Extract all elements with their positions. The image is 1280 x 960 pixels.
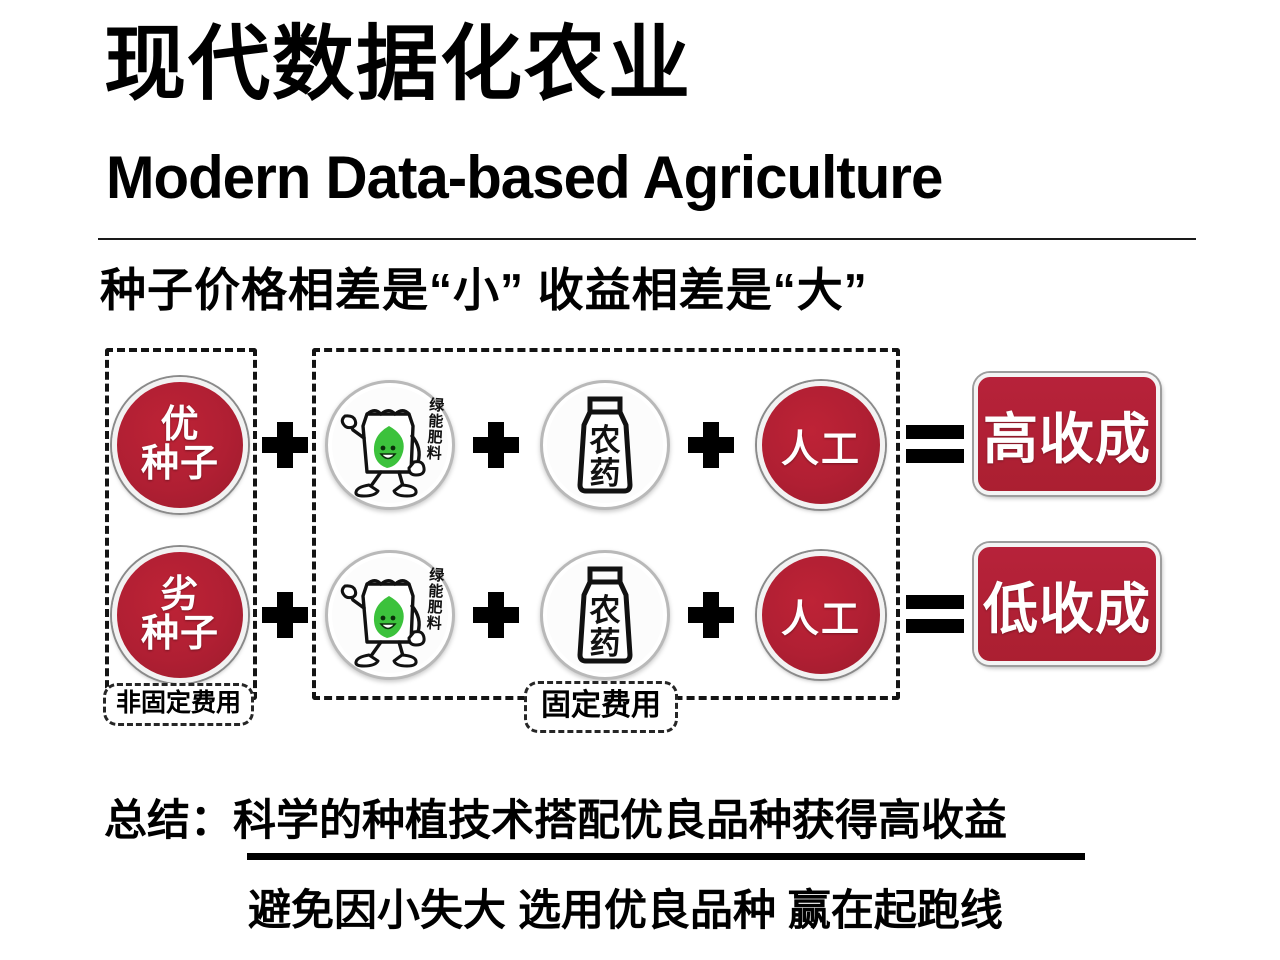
seed-badge-bad[interactable]: 劣 种子	[112, 547, 248, 683]
result-badge-low-yield[interactable]: 低收成	[974, 543, 1160, 665]
variable-cost-tag: 非固定费用	[103, 683, 254, 726]
equation-row-good-seed: 优 种子	[0, 365, 1280, 525]
seed-badge-good-text: 优 种子	[141, 406, 219, 484]
pesticide-bottle-icon: 农 药	[550, 559, 660, 671]
svg-text:农: 农	[590, 423, 621, 458]
page-title-en: Modern Data-based Agriculture	[106, 148, 942, 208]
summary-text: 总结：科学的种植技术搭配优良品种获得高收益	[104, 786, 1007, 848]
svg-text:药: 药	[590, 456, 621, 491]
plus-icon	[473, 422, 519, 468]
labor-badge-label: 人工	[781, 588, 861, 643]
plus-icon	[473, 592, 519, 638]
result-badge-high-yield[interactable]: 高收成	[974, 373, 1160, 495]
plus-icon	[688, 422, 734, 468]
fertilizer-badge[interactable]: 绿能肥料	[325, 380, 455, 510]
fertilizer-badge-label: 绿能肥料	[422, 396, 446, 461]
plus-icon	[262, 592, 308, 638]
seed-badge-good[interactable]: 优 种子	[112, 377, 248, 513]
summary-divider	[247, 853, 1085, 860]
svg-text:农: 农	[590, 593, 621, 628]
equation-diagram: 优 种子	[0, 340, 1280, 740]
fertilizer-badge-label: 绿能肥料	[422, 566, 446, 631]
equation-row-bad-seed: 劣 种子 绿能肥料	[0, 535, 1280, 695]
pesticide-badge[interactable]: 农 药	[540, 380, 670, 510]
labor-badge[interactable]: 人工	[757, 551, 885, 679]
tagline-text: 避免因小失大 选用优良品种 赢在起跑线	[248, 876, 1003, 938]
equals-icon	[906, 423, 964, 465]
page-subtitle: 种子价格相差是“小” 收益相差是“大”	[100, 254, 868, 320]
plus-icon	[688, 592, 734, 638]
labor-badge-label: 人工	[781, 418, 861, 473]
fertilizer-badge[interactable]: 绿能肥料	[325, 550, 455, 680]
equals-icon	[906, 593, 964, 635]
labor-badge[interactable]: 人工	[757, 381, 885, 509]
pesticide-badge[interactable]: 农 药	[540, 550, 670, 680]
svg-text:药: 药	[590, 626, 621, 661]
plus-icon	[262, 422, 308, 468]
fixed-cost-tag: 固定费用	[524, 681, 678, 733]
pesticide-bottle-icon: 农 药	[550, 389, 660, 501]
seed-badge-bad-text: 劣 种子	[141, 576, 219, 654]
page-title-cn: 现代数据化农业	[104, 22, 692, 108]
header-divider	[98, 238, 1196, 240]
